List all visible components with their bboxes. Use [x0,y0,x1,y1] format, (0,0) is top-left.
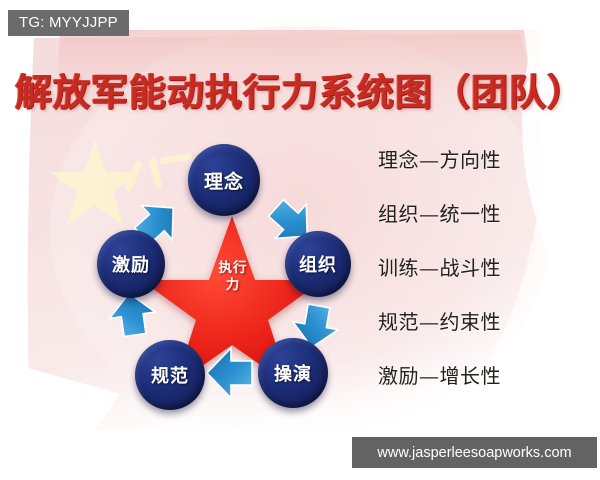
node-lixian[interactable]: 理念 [188,144,260,216]
poster-canvas: 解放军能动执行力系统图（团队） [0,0,600,480]
node-caoyan[interactable]: 操演 [258,338,328,408]
legend-item: 理念—方向性 [378,150,578,170]
node-zuzhi[interactable]: 组织 [285,231,351,297]
legend-list: 理念—方向性 组织—统一性 训练—战斗性 规范—约束性 激励—增长性 [378,150,578,386]
legend-item: 组织—统一性 [378,204,578,224]
center-star-label: 执行 力 [198,260,268,294]
legend-item: 训练—战斗性 [378,258,578,278]
legend-item: 规范—约束性 [378,312,578,332]
node-zuzhi-label: 组织 [299,251,337,277]
page-title: 解放军能动执行力系统图（团队） [0,62,600,116]
node-lixian-label: 理念 [204,167,244,194]
node-guifan[interactable]: 规范 [135,340,205,410]
website-url-watermark: www.jasperleesoapworks.com [352,437,597,468]
center-star-label-line2: 力 [198,277,268,294]
node-jili-label: 激励 [112,251,150,277]
telegram-watermark-badge: TG: MYYJJPP [8,10,129,36]
execution-cycle-diagram: 执行 力 理念 组织 操演 规范 激励 [80,138,380,428]
center-star-label-line1: 执行 [198,260,268,277]
node-caoyan-label: 操演 [274,360,312,386]
node-jili[interactable]: 激励 [97,230,165,298]
legend-item: 激励—增长性 [378,366,578,386]
node-guifan-label: 规范 [151,362,189,388]
